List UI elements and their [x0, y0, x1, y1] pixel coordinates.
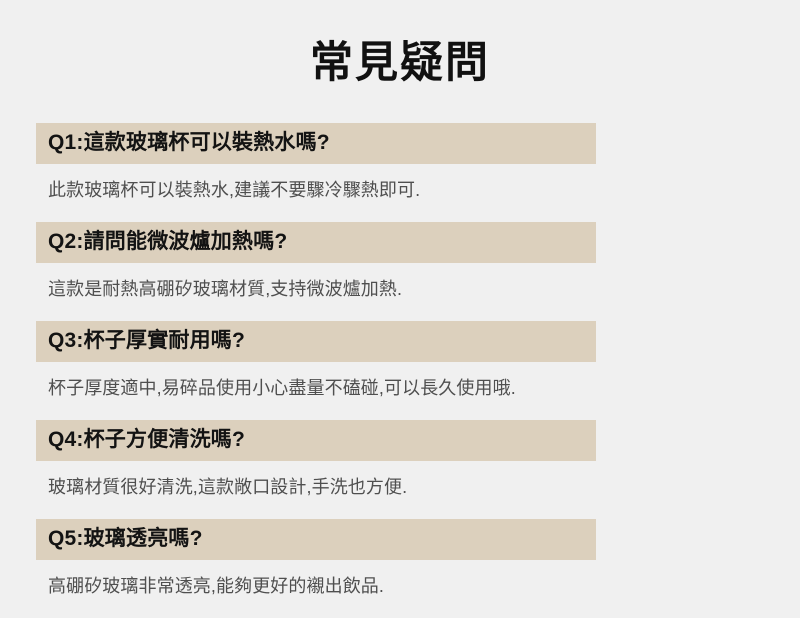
faq-answer-2: 這款是耐熱高硼矽玻璃材質,支持微波爐加熱. [48, 276, 800, 302]
faq-question-5[interactable]: Q5:玻璃透亮嗎? [36, 519, 596, 560]
faq-question-4[interactable]: Q4:杯子方便清洗嗎? [36, 420, 596, 461]
faq-answer-4: 玻璃材質很好清洗,這款敞口設計,手洗也方便. [48, 474, 800, 500]
faq-answer-5: 高硼矽玻璃非常透亮,能夠更好的襯出飲品. [48, 573, 800, 599]
faq-question-1[interactable]: Q1:這款玻璃杯可以裝熱水嗎? [36, 123, 596, 164]
faq-item-2: Q2:請問能微波爐加熱嗎? 這款是耐熱高硼矽玻璃材質,支持微波爐加熱. [0, 222, 800, 302]
faq-answer-1: 此款玻璃杯可以裝熱水,建議不要驟冷驟熱即可. [48, 177, 800, 203]
faq-question-3[interactable]: Q3:杯子厚實耐用嗎? [36, 321, 596, 362]
faq-question-2[interactable]: Q2:請問能微波爐加熱嗎? [36, 222, 596, 263]
page-title: 常見疑問 [0, 0, 800, 90]
faq-item-5: Q5:玻璃透亮嗎? 高硼矽玻璃非常透亮,能夠更好的襯出飲品. [0, 519, 800, 599]
faq-page: 常見疑問 Q1:這款玻璃杯可以裝熱水嗎? 此款玻璃杯可以裝熱水,建議不要驟冷驟熱… [0, 0, 800, 618]
faq-item-3: Q3:杯子厚實耐用嗎? 杯子厚度適中,易碎品使用小心盡量不磕碰,可以長久使用哦. [0, 321, 800, 401]
faq-item-4: Q4:杯子方便清洗嗎? 玻璃材質很好清洗,這款敞口設計,手洗也方便. [0, 420, 800, 500]
faq-list: Q1:這款玻璃杯可以裝熱水嗎? 此款玻璃杯可以裝熱水,建議不要驟冷驟熱即可. Q… [0, 123, 800, 599]
faq-answer-3: 杯子厚度適中,易碎品使用小心盡量不磕碰,可以長久使用哦. [48, 375, 800, 401]
faq-item-1: Q1:這款玻璃杯可以裝熱水嗎? 此款玻璃杯可以裝熱水,建議不要驟冷驟熱即可. [0, 123, 800, 203]
